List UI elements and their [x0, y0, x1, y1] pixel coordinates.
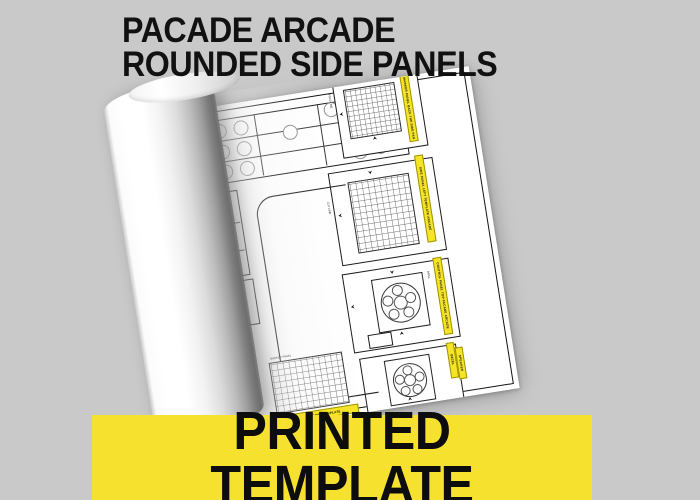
printed-template-banner: PRINTED TEMPLATE	[92, 415, 592, 500]
arrow-down-icon: ⮝	[399, 332, 404, 338]
page-title: PACADE ARCADE ROUNDED SIDE PANELS	[122, 14, 637, 82]
arrow-up-icon: ⮝	[389, 268, 394, 274]
arrow-left-icon: ⮜	[339, 112, 343, 117]
arrow-up-icon: ⮝	[367, 168, 372, 174]
marker-panel-grid	[343, 82, 402, 140]
side-panel-left-grid	[347, 173, 419, 254]
banner-label: PRINTED TEMPLATE	[110, 404, 575, 500]
title-line-2: ROUNDED SIDE PANELS	[122, 48, 637, 82]
poster-canvas: TEMPLATE ⮜ ⮝ MARKER PANEL BACK THE SIDE …	[0, 0, 700, 500]
arrow-down-icon: ⮝	[373, 136, 378, 142]
